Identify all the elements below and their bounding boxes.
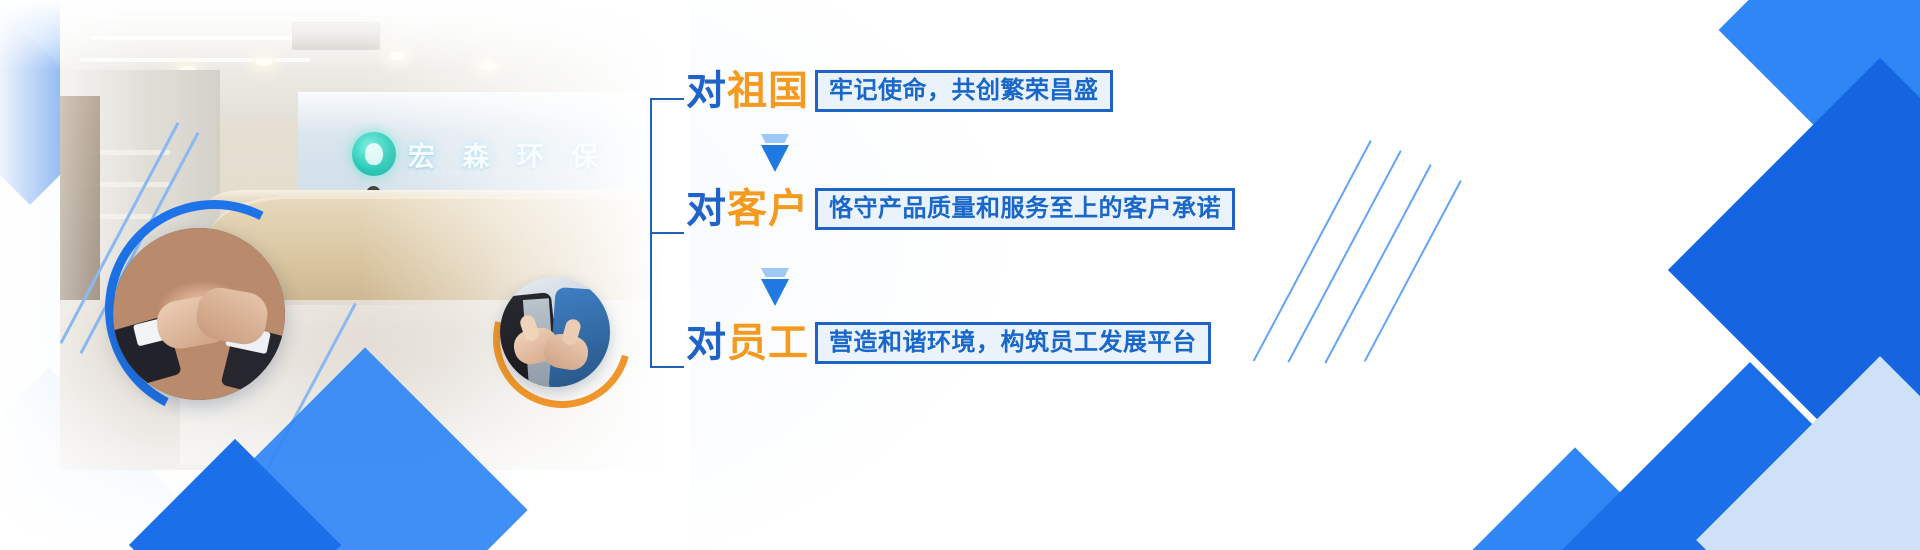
value-prefix: 对 bbox=[686, 186, 727, 232]
value-label-country: 对祖国 bbox=[686, 71, 809, 111]
value-label-customer: 对客户 bbox=[686, 189, 809, 229]
callout-edge-right bbox=[1232, 188, 1235, 230]
chevron-tip bbox=[761, 145, 789, 172]
value-callout-customer: 恪守产品质量和服务至上的客户承诺 bbox=[815, 188, 1235, 230]
value-row-employee: 对员工 营造和谐环境，构筑员工发展平台 bbox=[686, 322, 1211, 364]
callout-edge-bottom bbox=[815, 361, 1211, 364]
value-row-country: 对祖国 牢记使命，共创繁荣昌盛 bbox=[686, 70, 1113, 112]
callout-edge-bottom bbox=[815, 227, 1235, 230]
bracket-branch-1 bbox=[650, 98, 684, 100]
chevron-cap bbox=[761, 268, 789, 277]
value-row-customer: 对客户 恪守产品质量和服务至上的客户承诺 bbox=[686, 188, 1235, 230]
chevron-down-icon bbox=[758, 134, 792, 174]
bracket-connector bbox=[650, 98, 686, 368]
values-list: 对祖国 牢记使命，共创繁荣昌盛 对客户 恪守产品质量和服务至上的客户承诺 bbox=[650, 70, 1350, 400]
decor-thin-line-group bbox=[1360, 140, 1620, 420]
company-values-banner: 宏 森 环 保 HONGSEN ENVIRONMENTAL PROTECTION bbox=[0, 0, 1920, 550]
callout-edge-bottom bbox=[815, 109, 1113, 112]
callout-edge-right bbox=[1208, 322, 1211, 364]
value-callout-employee: 营造和谐环境，构筑员工发展平台 bbox=[815, 322, 1211, 364]
handshake-photo-bubble bbox=[113, 228, 285, 400]
value-callout-text: 牢记使命，共创繁荣昌盛 bbox=[829, 76, 1099, 104]
value-callout-text: 营造和谐环境，构筑员工发展平台 bbox=[829, 328, 1197, 356]
value-target: 客户 bbox=[727, 186, 809, 232]
value-callout-country: 牢记使命，共创繁荣昌盛 bbox=[815, 70, 1113, 112]
bracket-branch-2 bbox=[650, 232, 684, 234]
value-label-employee: 对员工 bbox=[686, 323, 809, 363]
value-target: 祖国 bbox=[727, 68, 809, 114]
chevron-down-icon bbox=[758, 268, 792, 308]
callout-edge-right bbox=[1110, 70, 1113, 112]
value-prefix: 对 bbox=[686, 320, 727, 366]
value-callout-text: 恪守产品质量和服务至上的客户承诺 bbox=[829, 194, 1221, 222]
handshake-image bbox=[113, 228, 285, 400]
value-target: 员工 bbox=[727, 320, 809, 366]
decor-thin-line bbox=[1364, 180, 1462, 362]
thumbs-up-photo-bubble bbox=[500, 277, 610, 387]
thumbs-up-image bbox=[500, 277, 610, 387]
chevron-tip bbox=[761, 279, 789, 306]
value-prefix: 对 bbox=[686, 68, 727, 114]
chevron-cap bbox=[761, 134, 789, 143]
bracket-branch-3 bbox=[650, 366, 684, 368]
